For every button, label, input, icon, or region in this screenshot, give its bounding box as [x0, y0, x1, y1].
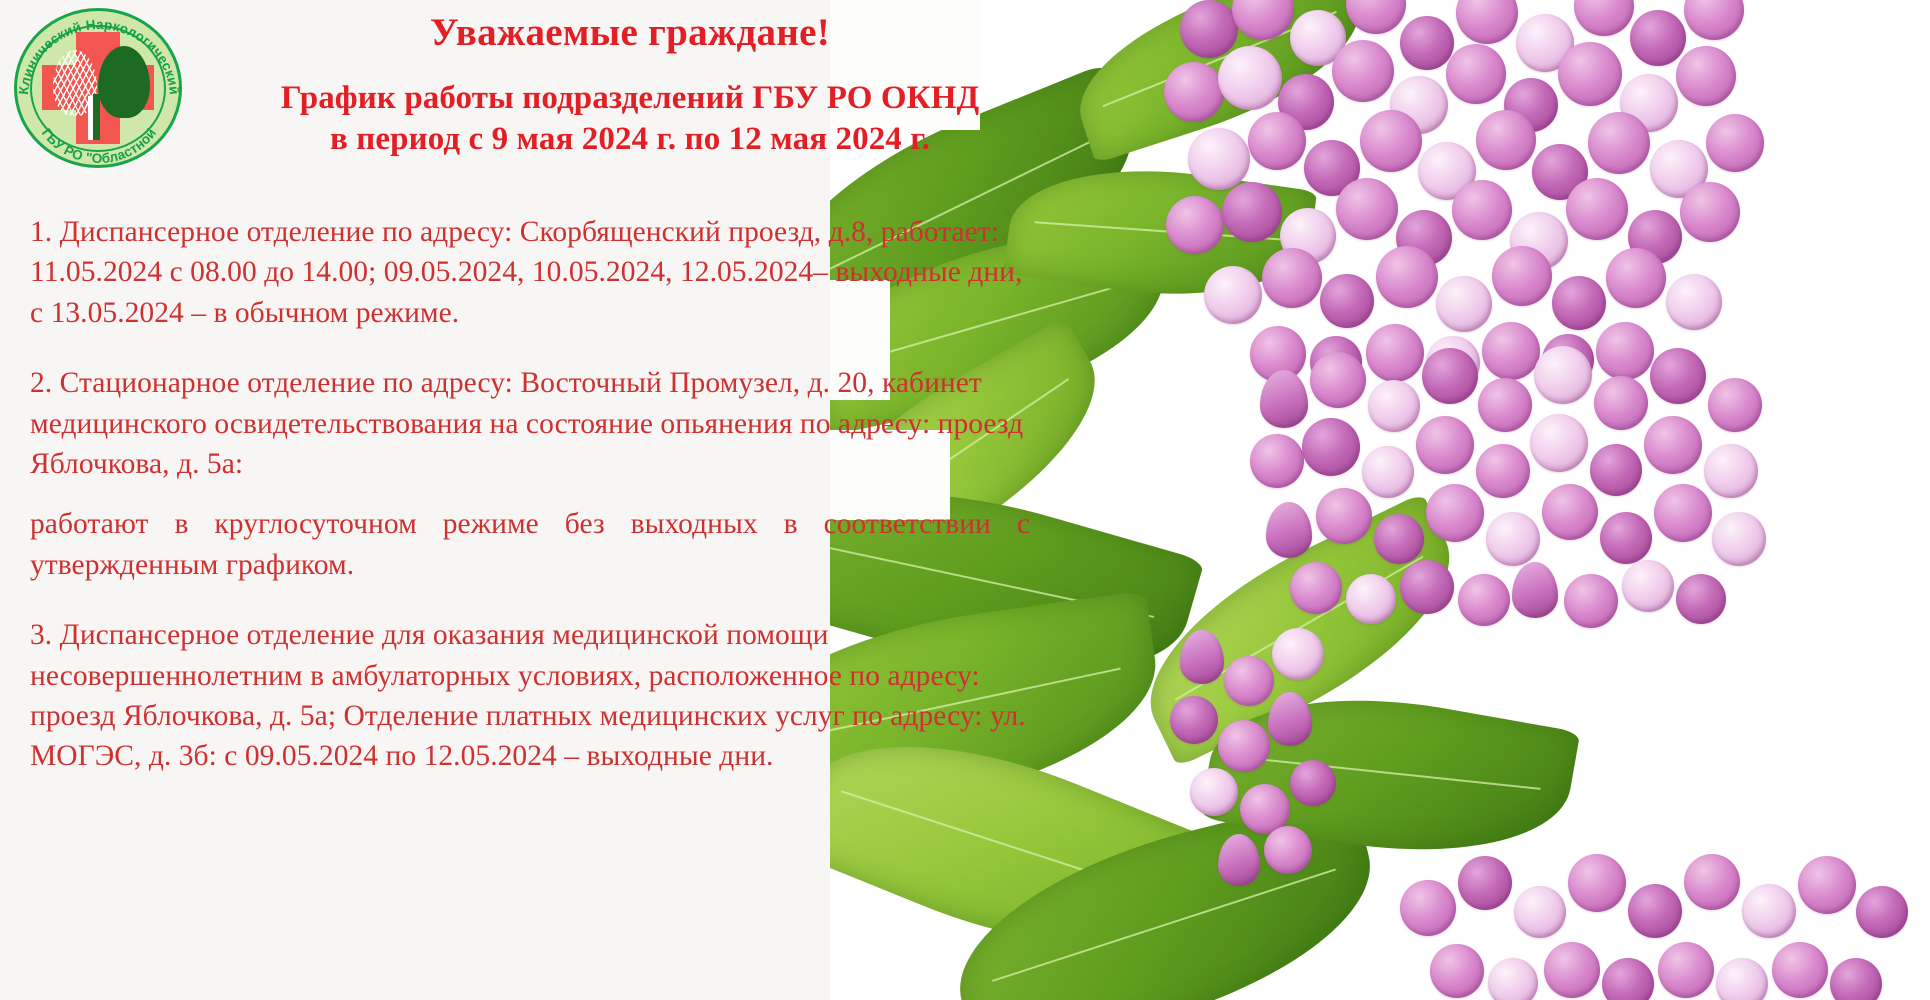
- announcement-poster: Клинический Наркологический ГБУ РО "Обла…: [0, 0, 1930, 1000]
- lilac-cluster: [1160, 620, 1460, 920]
- poster-body: 1. Диспансерное отделение по адресу: Ско…: [30, 212, 1030, 777]
- lilac-cluster: [1250, 330, 1810, 670]
- page-title: Уважаемые граждане!: [200, 10, 1060, 56]
- header-subtitle-line1: График работы подразделений ГБУ РО ОКНД: [200, 78, 1060, 119]
- logo-arc-text-bottom-path: ГБУ РО "Областной: [39, 125, 159, 166]
- logo-arc-text-top: Клинический Наркологический: [16, 17, 182, 95]
- paragraph-2: 2. Стационарное отделение по адресу: Вос…: [30, 363, 1030, 484]
- paragraph-3: работают в круглосуточном режиме без вых…: [30, 504, 1030, 585]
- paragraph-4: 3. Диспансерное отделение для оказания м…: [30, 615, 1030, 777]
- header-subtitle-line2: в период с 9 мая 2024 г. по 12 мая 2024 …: [200, 119, 1060, 160]
- logo-arc-text-top-path: Клинический Наркологический: [16, 17, 182, 95]
- logo-arc-text: Клинический Наркологический ГБУ РО "Обла…: [8, 4, 190, 172]
- okngd-logo: Клинический Наркологический ГБУ РО "Обла…: [8, 4, 190, 172]
- lilac-cluster: [1390, 840, 1930, 1000]
- paragraph-1: 1. Диспансерное отделение по адресу: Ско…: [30, 212, 1030, 333]
- poster-header: Уважаемые граждане! График работы подраз…: [200, 10, 1060, 160]
- logo-arc-text-bottom: ГБУ РО "Областной: [39, 125, 159, 166]
